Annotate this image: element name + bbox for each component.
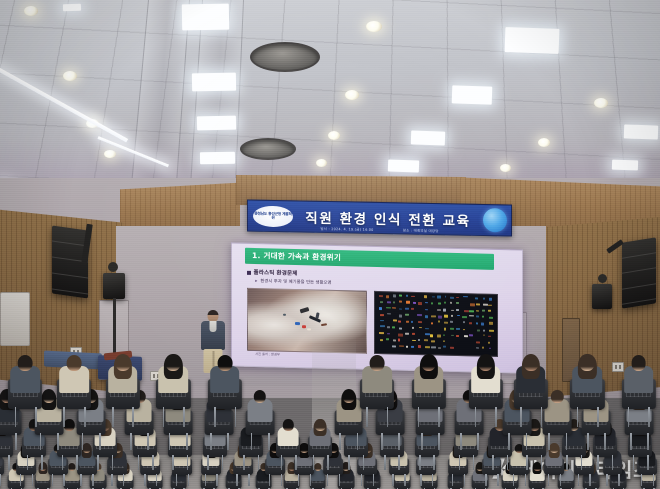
attendee-head (631, 355, 646, 371)
chair-leg (438, 407, 440, 428)
attendee-head (421, 355, 436, 371)
ceiling-downlight (24, 6, 38, 16)
banner-subtext-left: 일시 : 2024. 4. 19.(금) 14:00 (320, 227, 373, 232)
ceiling-downlight (63, 71, 77, 81)
photo-scene: 충청남도 홍성군청 계룡학원 직원 환경 인식 전환 교육 일시 : 2024.… (0, 0, 660, 489)
chair-leg (235, 407, 237, 428)
speaker-mount-left (108, 262, 118, 272)
chair-leg (418, 407, 420, 428)
ceiling-led-panel (505, 27, 560, 54)
chair-leg (541, 407, 543, 428)
ceiling-led-panel (192, 73, 236, 92)
ceiling-downlight (104, 150, 116, 158)
chair-leg (597, 407, 599, 428)
attendee-head (115, 355, 130, 371)
chair-leg (520, 407, 522, 428)
event-banner: 충청남도 홍성군청 계룡학원 직원 환경 인식 전환 교육 일시 : 2024.… (247, 199, 512, 236)
chair-leg (163, 407, 165, 428)
ceiling-downlight (538, 138, 550, 147)
chair-leg (475, 407, 477, 428)
ceiling-downlight (328, 131, 340, 140)
chair-leg (214, 407, 216, 428)
ceiling-led-panel (63, 4, 81, 12)
attendee-head (67, 355, 82, 371)
chair-leg (84, 407, 86, 428)
attendee-head (478, 355, 493, 371)
ceiling-led-panel (612, 160, 638, 171)
ceiling-air-diffuser (240, 138, 296, 160)
ceiling-led-panel (411, 130, 445, 145)
attendee-head (523, 355, 538, 371)
slide-bullet-main: 플라스틱 환경문제 (247, 268, 298, 277)
ceiling-led-panel (197, 116, 236, 131)
chair-leg (132, 407, 134, 428)
ceiling-downlight (345, 90, 359, 100)
chair-leg (183, 407, 185, 428)
ceiling-led-panel (200, 152, 235, 165)
attendee-head (370, 355, 385, 371)
chair-leg (387, 407, 389, 428)
banner-subtext-right: 장소 : 대회의실 대강당 (403, 228, 439, 233)
attendee-head (580, 355, 595, 371)
ceiling-led-panel (624, 124, 658, 139)
ceiling-downlight (500, 164, 511, 172)
presenter-shirt (210, 321, 217, 332)
ceiling-downlight (316, 159, 327, 167)
attendee-head (166, 355, 181, 371)
ceiling-downlight (594, 98, 608, 108)
chair-leg (648, 407, 650, 428)
ceiling-led-panel (452, 85, 493, 104)
audience-row (0, 333, 660, 489)
chair-leg (63, 407, 65, 428)
wall-speaker-left (103, 273, 125, 299)
chair-leg (628, 407, 630, 428)
chair-leg (35, 407, 37, 428)
slide-section-header: 1. 거대한 가속과 환경위기 (245, 247, 494, 270)
chair-leg (15, 407, 17, 428)
banner-emblem-text: 충청남도 홍성군청 계룡학원 (254, 212, 292, 220)
attendee-head (18, 355, 33, 371)
wall-speaker-right (592, 284, 612, 309)
line-array-speaker-right (622, 237, 656, 308)
audience (0, 333, 660, 489)
ceiling-led-panel (182, 4, 229, 31)
chair-leg (495, 407, 497, 428)
chair-leg (366, 407, 368, 428)
banner-emblem: 충청남도 홍성군청 계룡학원 (253, 205, 293, 227)
chair-leg (112, 407, 114, 428)
ceiling-downlight (366, 21, 382, 32)
attendee-head (217, 355, 232, 371)
slide-bullet-sub: 환경시 투자 및 폐기물을 만든 생활오염 (255, 278, 331, 286)
speaker-mount-right (598, 274, 607, 283)
ceiling-led-panel (388, 159, 419, 172)
chair-leg (577, 407, 579, 428)
slide-section-heading-text: 1. 거대한 가속과 환경위기 (252, 250, 341, 263)
